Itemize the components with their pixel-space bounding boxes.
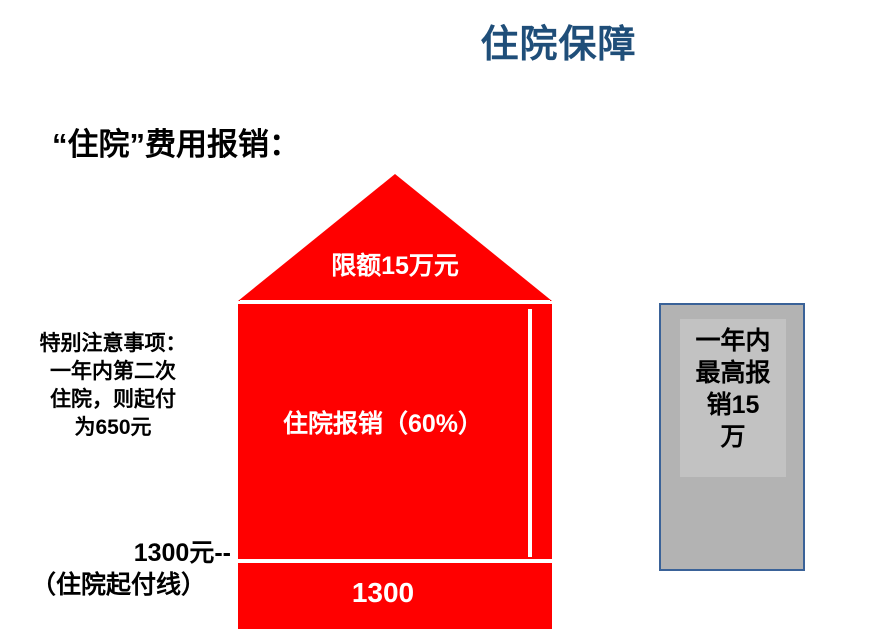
annual-cap-line-3: 销15 (680, 389, 786, 421)
special-note-line-2: 一年内第二次 (6, 358, 220, 386)
roof-body-divider (240, 300, 550, 304)
annual-cap-callout-box: 一年内 最高报 销15 万 (659, 303, 805, 571)
special-note-block: 特别注意事项： 一年内第二次 住院，则起付 为650元 (6, 330, 220, 442)
annual-cap-text-block: 一年内 最高报 销15 万 (680, 325, 786, 453)
deductible-amount-label: 1300元-- (6, 537, 231, 569)
page-title: 住院保障 (0, 24, 887, 68)
deductible-caption: 1300元-- （住院起付线） (6, 537, 231, 601)
house-base-block: 1300 (238, 563, 552, 629)
house-diagram: 限额15万元 住院报销（60%） 1300 (238, 174, 552, 629)
deductible-value-label: 1300 (238, 577, 528, 609)
roof-limit-label: 限额15万元 (238, 246, 552, 282)
section-subtitle: “住院”费用报销： (52, 119, 300, 164)
annual-cap-inner-panel: 一年内 最高报 销15 万 (680, 319, 786, 477)
special-note-line-1: 特别注意事项： (6, 330, 220, 358)
body-vertical-divider (528, 309, 532, 557)
house-roof-triangle: 限额15万元 (238, 174, 552, 301)
special-note-line-4: 为650元 (6, 414, 220, 442)
annual-cap-line-2: 最高报 (680, 357, 786, 389)
deductible-paren-label: （住院起付线） (6, 569, 231, 601)
annual-cap-line-1: 一年内 (680, 325, 786, 357)
house-body-block: 住院报销（60%） (238, 304, 552, 559)
reimbursement-rate-label: 住院报销（60%） (238, 404, 528, 440)
special-note-line-3: 住院，则起付 (6, 386, 220, 414)
annual-cap-line-4: 万 (680, 421, 786, 453)
slide-canvas: 住院保障 “住院”费用报销： 特别注意事项： 一年内第二次 住院，则起付 为65… (0, 0, 887, 643)
